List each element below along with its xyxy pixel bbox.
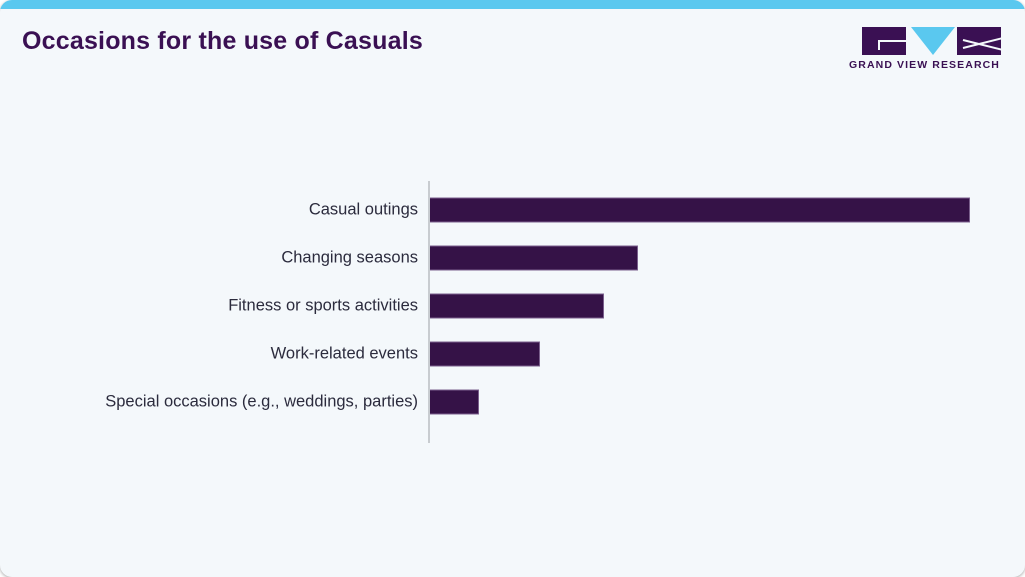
chart-row: Work-related events bbox=[0, 330, 1025, 378]
bar-track bbox=[430, 294, 970, 319]
category-label: Work-related events bbox=[271, 345, 418, 364]
slide-canvas: Occasions for the use of Casuals GRAND V… bbox=[0, 0, 1025, 577]
category-label: Changing seasons bbox=[281, 249, 418, 268]
chart-row: Casual outings bbox=[0, 186, 1025, 234]
bar-track bbox=[430, 198, 970, 223]
bar-chart: Casual outingsChanging seasonsFitness or… bbox=[0, 0, 1025, 577]
bar bbox=[430, 246, 638, 271]
bar-track bbox=[430, 246, 970, 271]
category-label: Special occasions (e.g., weddings, parti… bbox=[105, 393, 418, 412]
bar bbox=[430, 198, 970, 223]
bar-track bbox=[430, 390, 970, 415]
bar bbox=[430, 342, 540, 367]
chart-rows: Casual outingsChanging seasonsFitness or… bbox=[0, 186, 1025, 426]
bar bbox=[430, 294, 604, 319]
bar-track bbox=[430, 342, 970, 367]
category-label: Casual outings bbox=[309, 201, 418, 220]
bar bbox=[430, 390, 479, 415]
category-label: Fitness or sports activities bbox=[228, 297, 418, 316]
chart-row: Special occasions (e.g., weddings, parti… bbox=[0, 378, 1025, 426]
chart-row: Fitness or sports activities bbox=[0, 282, 1025, 330]
chart-row: Changing seasons bbox=[0, 234, 1025, 282]
